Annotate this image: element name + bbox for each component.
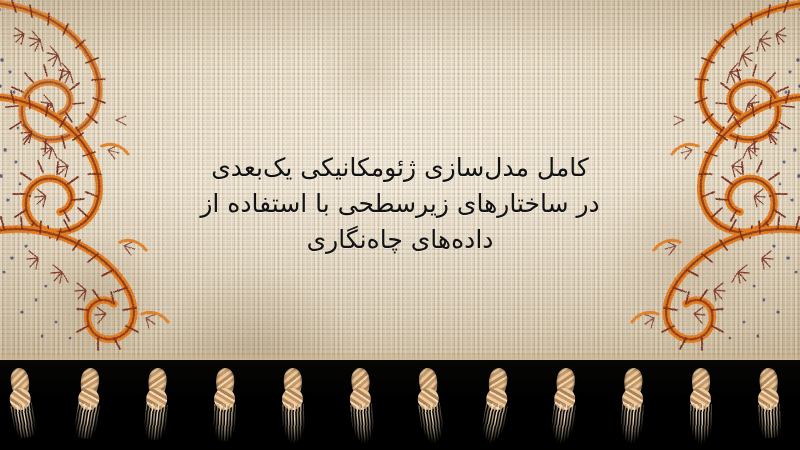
tassel-tuft	[690, 404, 712, 448]
tassel-tuft	[479, 402, 508, 446]
tassel	[212, 368, 238, 446]
tassel	[551, 368, 579, 447]
tassel-tuft	[418, 402, 446, 445]
slide-title: کامل مدل‌سازی ژئومکانیکی یک‌بعدی در ساخت…	[175, 150, 625, 258]
tassel	[415, 368, 443, 447]
tassel-tuft	[143, 403, 168, 441]
tassel	[756, 368, 783, 446]
tassel-tuft	[350, 403, 375, 444]
tassel	[75, 368, 103, 447]
tassel	[7, 368, 36, 447]
tassel-tuft	[282, 404, 305, 443]
tassel	[688, 368, 714, 446]
tassel-tuft	[73, 402, 100, 440]
tassel	[483, 368, 512, 447]
tassel-tuft	[619, 403, 644, 447]
title-line-1: کامل مدل‌سازی ژئومکانیکی یک‌بعدی	[175, 150, 625, 186]
title-line-2: در ساختارهای زیرسطحی با استفاده از	[175, 186, 625, 222]
tassel-tuft	[10, 402, 38, 439]
slide-canvas: کامل مدل‌سازی ژئومکانیکی یک‌بعدی در ساخت…	[0, 0, 800, 450]
tassel-tuft	[758, 403, 782, 438]
tassel	[347, 368, 374, 446]
tassel	[280, 368, 306, 446]
tassel	[620, 368, 647, 446]
knotted-tassel-fringe	[0, 368, 800, 450]
title-line-3: داده‌های چاه‌نگاری	[175, 222, 625, 258]
tassel	[143, 368, 170, 446]
tassel-tuft	[213, 404, 236, 442]
tassel-tuft	[549, 403, 576, 447]
